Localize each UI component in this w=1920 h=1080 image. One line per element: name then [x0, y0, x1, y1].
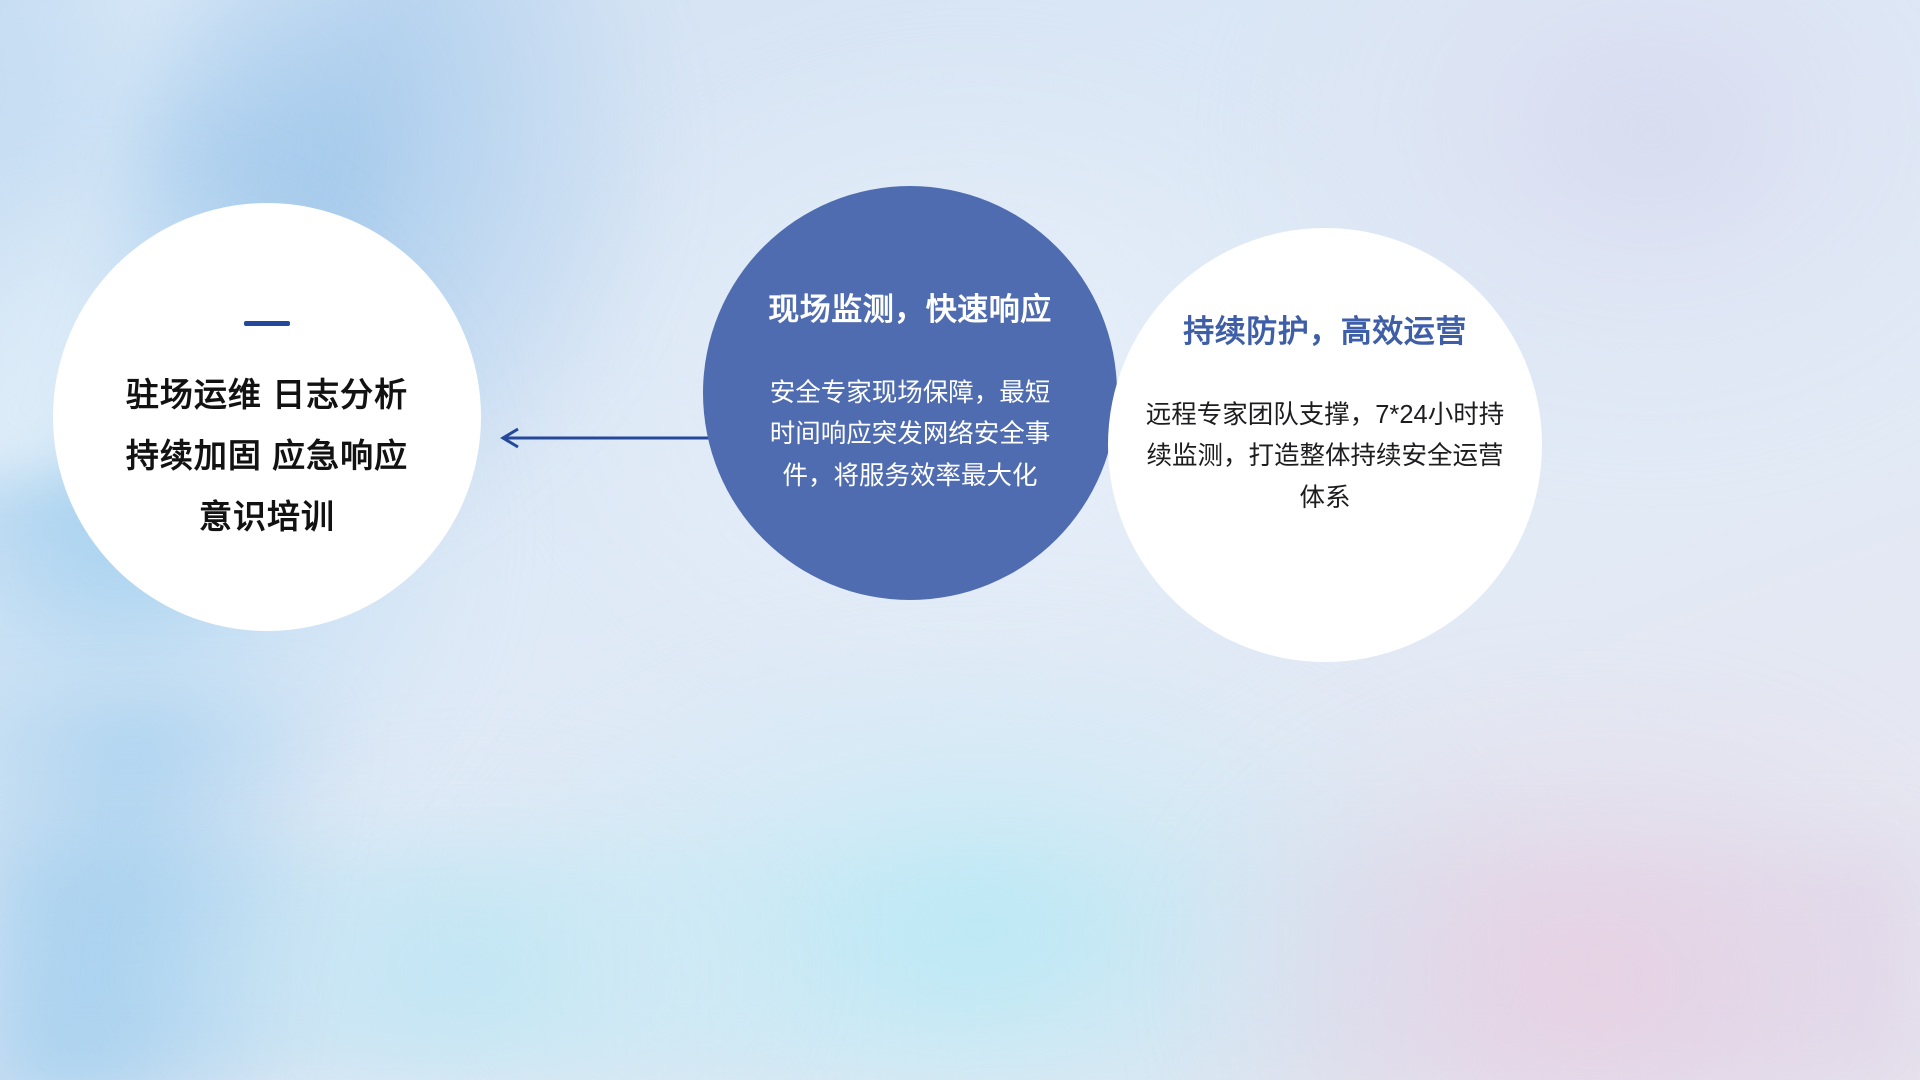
- right-card-title: 持续防护，高效运营: [1183, 306, 1467, 351]
- connector-arrow: [490, 418, 720, 458]
- left-capability-circle[interactable]: 驻场运维 日志分析 持续加固 应急响应 意识培训: [53, 203, 481, 631]
- background-light-streak-lower: [0, 700, 400, 1080]
- center-card-title: 现场监测，快速响应: [768, 284, 1052, 329]
- center-onsite-monitoring-circle[interactable]: 现场监测，快速响应 安全专家现场保障，最短时间响应突发网络安全事件，将服务效率最…: [703, 186, 1117, 600]
- right-card-body: 远程专家团队支撑，7*24小时持续监测，打造整体持续安全运营体系: [1145, 395, 1505, 519]
- right-continuous-protection-circle[interactable]: 持续防护，高效运营 远程专家团队支撑，7*24小时持续监测，打造整体持续安全运营…: [1108, 228, 1542, 662]
- capability-list: 驻场运维 日志分析 持续加固 应急响应 意识培训: [126, 364, 408, 547]
- background-glow-pink: [1180, 700, 1920, 1080]
- capability-line-2: 持续加固 应急响应: [126, 425, 408, 486]
- capability-line-3: 意识培训: [126, 486, 408, 547]
- center-card-body: 安全专家现场保障，最短时间响应突发网络安全事件，将服务效率最大化: [760, 373, 1060, 497]
- capability-line-1: 驻场运维 日志分析: [126, 364, 408, 425]
- slide-canvas: 驻场运维 日志分析 持续加固 应急响应 意识培训 现场监测，快速响应 安全专家现…: [0, 0, 1920, 1080]
- divider-dash-icon: [244, 321, 290, 326]
